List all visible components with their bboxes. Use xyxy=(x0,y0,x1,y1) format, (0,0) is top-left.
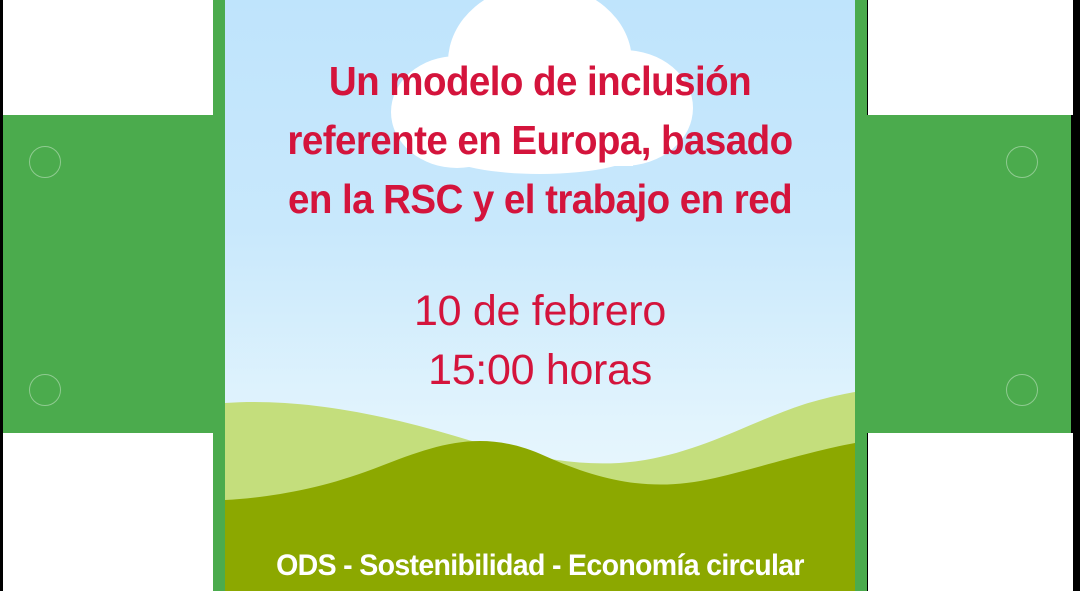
footer-strapline: ODS - Sostenibilidad - Economía circular xyxy=(241,548,840,584)
poster-footer: ODS - Sostenibilidad - Economía circular xyxy=(225,548,855,584)
title-line-2: referente en Europa, basado xyxy=(244,111,836,170)
circle-decoration-icon xyxy=(1006,374,1038,406)
paper-background-top-left xyxy=(3,0,213,115)
green-panel-right xyxy=(855,115,1071,433)
title-line-3: en la RSC y el trabajo en red xyxy=(244,170,836,229)
poster-slide: Un modelo de inclusión referente en Euro… xyxy=(0,0,1080,591)
circle-decoration-icon xyxy=(29,146,61,178)
paper-background-bottom-right xyxy=(868,433,1073,591)
paper-background-bottom-left xyxy=(3,433,213,591)
circle-decoration-icon xyxy=(1006,146,1038,178)
event-date: 10 de febrero xyxy=(225,282,855,341)
circle-decoration-icon xyxy=(29,374,61,406)
poster-title: Un modelo de inclusión referente en Euro… xyxy=(225,52,855,229)
title-line-1: Un modelo de inclusión xyxy=(244,52,836,111)
event-datetime: 10 de febrero 15:00 horas xyxy=(225,282,855,400)
paper-background-top-right xyxy=(868,0,1073,115)
event-time: 15:00 horas xyxy=(225,341,855,400)
